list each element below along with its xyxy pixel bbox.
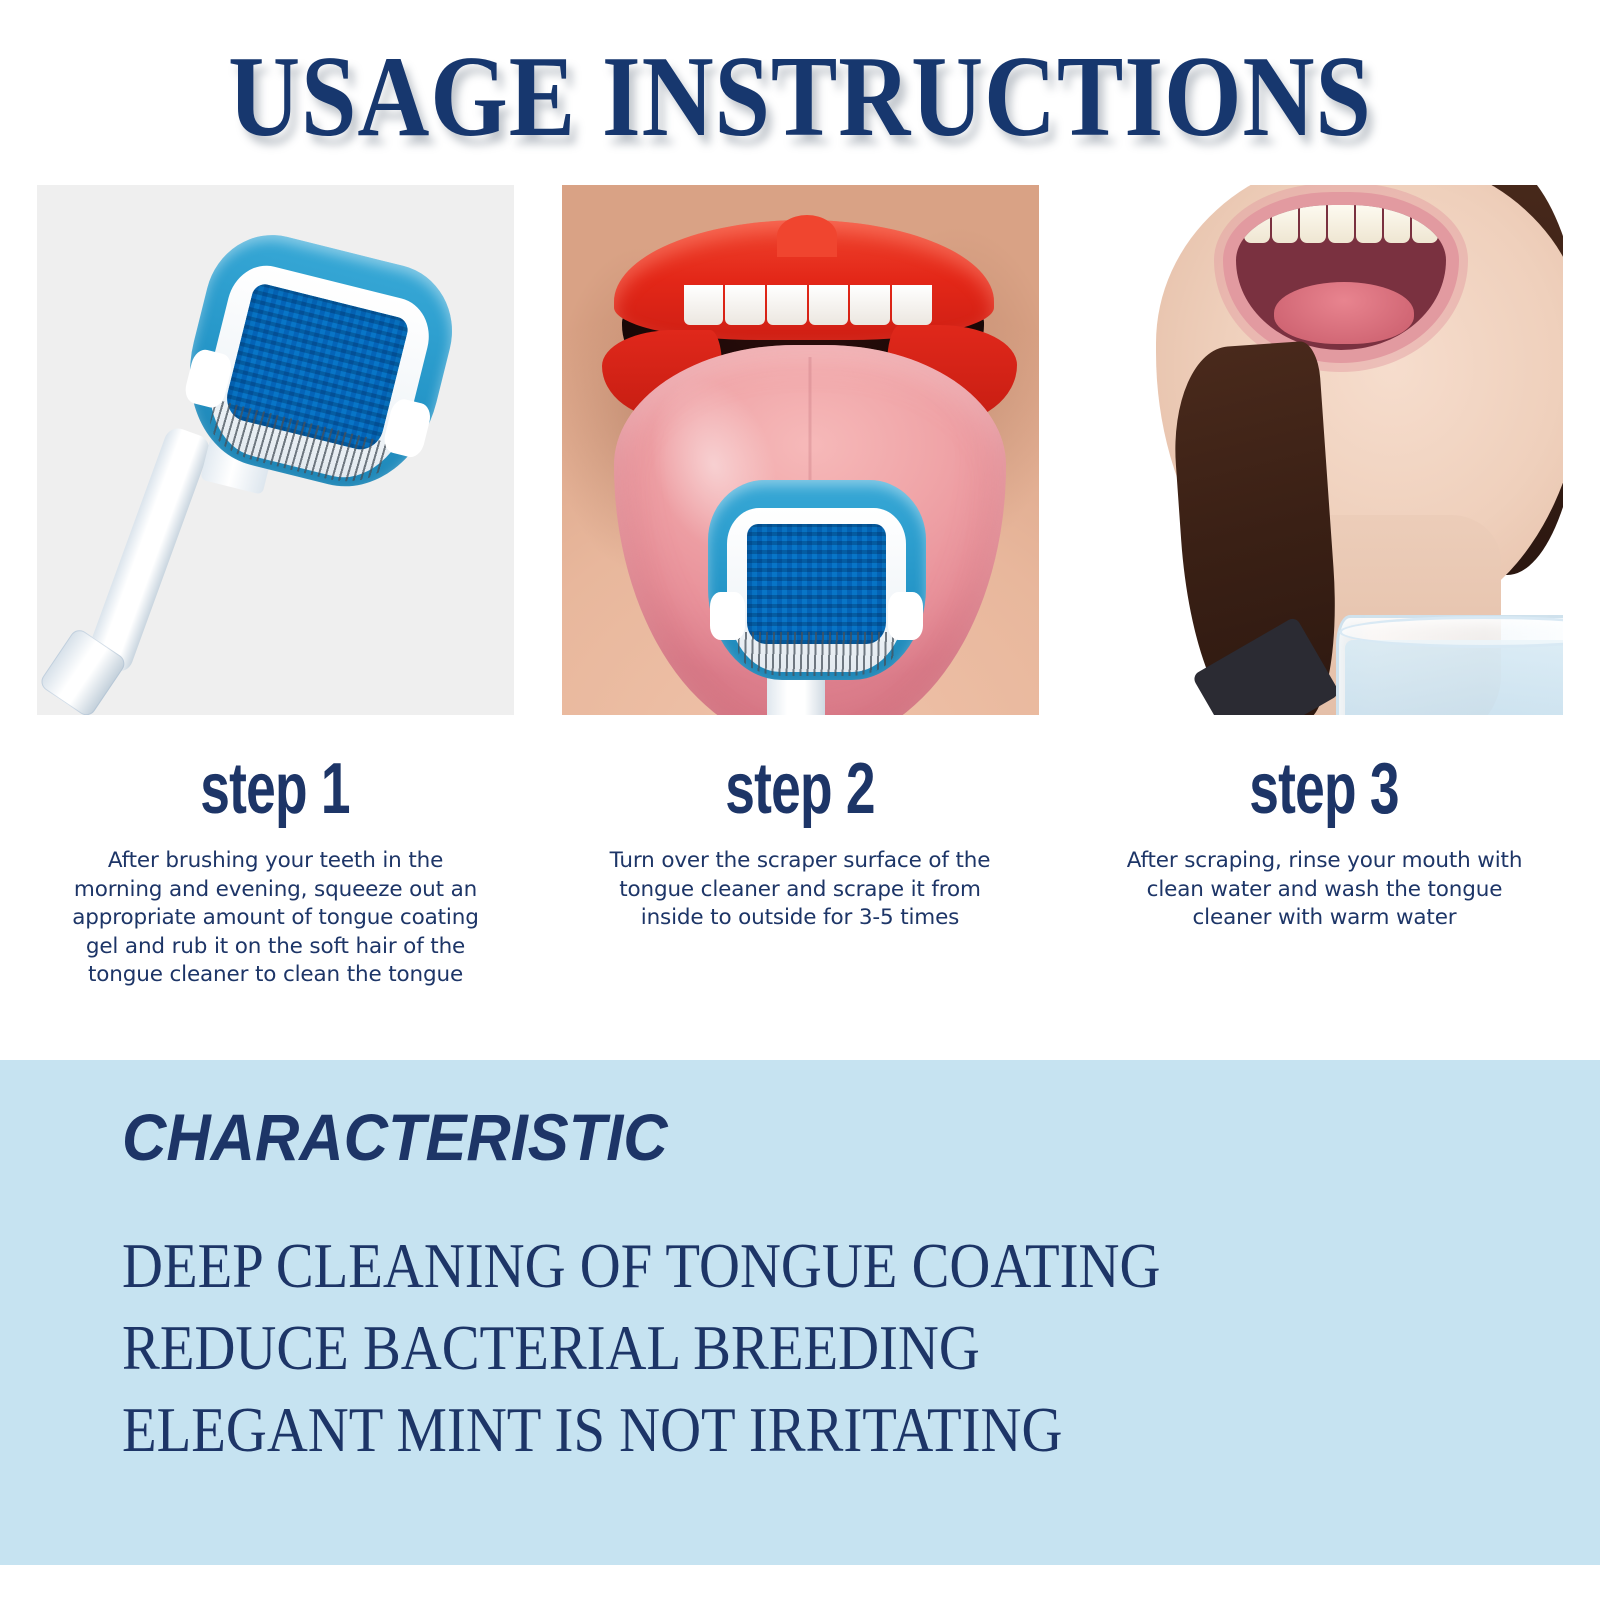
characteristic-list: DEEP CLEANING OF TONGUE COATING REDUCE B… bbox=[122, 1225, 1600, 1471]
characteristic-item: REDUCE BACTERIAL BREEDING bbox=[122, 1307, 1452, 1389]
tongue-cleaner-product-illustration bbox=[74, 190, 494, 710]
step-3-heading: step 3 bbox=[1250, 753, 1400, 825]
cupids-bow bbox=[777, 215, 837, 257]
step-2-image bbox=[562, 185, 1039, 715]
step-card-1: step 1 After brushing your teeth in the … bbox=[37, 185, 514, 990]
steps-row: step 1 After brushing your teeth in the … bbox=[0, 185, 1600, 990]
characteristic-title: CHARACTERISTIC bbox=[122, 1104, 1497, 1170]
step-card-3: step 3 After scraping, rinse your mouth … bbox=[1086, 185, 1563, 990]
water-glass bbox=[1336, 615, 1563, 715]
characteristic-item: DEEP CLEANING OF TONGUE COATING bbox=[122, 1225, 1452, 1307]
characteristic-section: CHARACTERISTIC DEEP CLEANING OF TONGUE C… bbox=[0, 1060, 1600, 1565]
step-1-caption: After brushing your teeth in the morning… bbox=[61, 847, 491, 990]
step-1-heading: step 1 bbox=[201, 753, 351, 825]
header-banner: USAGE INSTRUCTIONS bbox=[0, 0, 1600, 185]
upper-teeth-row bbox=[1244, 205, 1438, 243]
step-3-caption: After scraping, rinse your mouth with cl… bbox=[1110, 847, 1540, 933]
step-3-image bbox=[1086, 185, 1563, 715]
water-fill bbox=[1345, 640, 1563, 715]
step-2-caption: Turn over the scraper surface of the ton… bbox=[585, 847, 1015, 933]
upper-teeth bbox=[684, 285, 932, 325]
product-head-on-tongue bbox=[708, 480, 926, 680]
tongue bbox=[1274, 282, 1414, 344]
characteristic-item: ELEGANT MINT IS NOT IRRITATING bbox=[122, 1389, 1452, 1471]
step-2-heading: step 2 bbox=[725, 753, 875, 825]
product-handle bbox=[37, 409, 224, 702]
step-card-2: step 2 Turn over the scraper surface of … bbox=[562, 185, 1039, 990]
step-1-image bbox=[37, 185, 514, 715]
page-title: USAGE INSTRUCTIONS bbox=[228, 39, 1372, 155]
